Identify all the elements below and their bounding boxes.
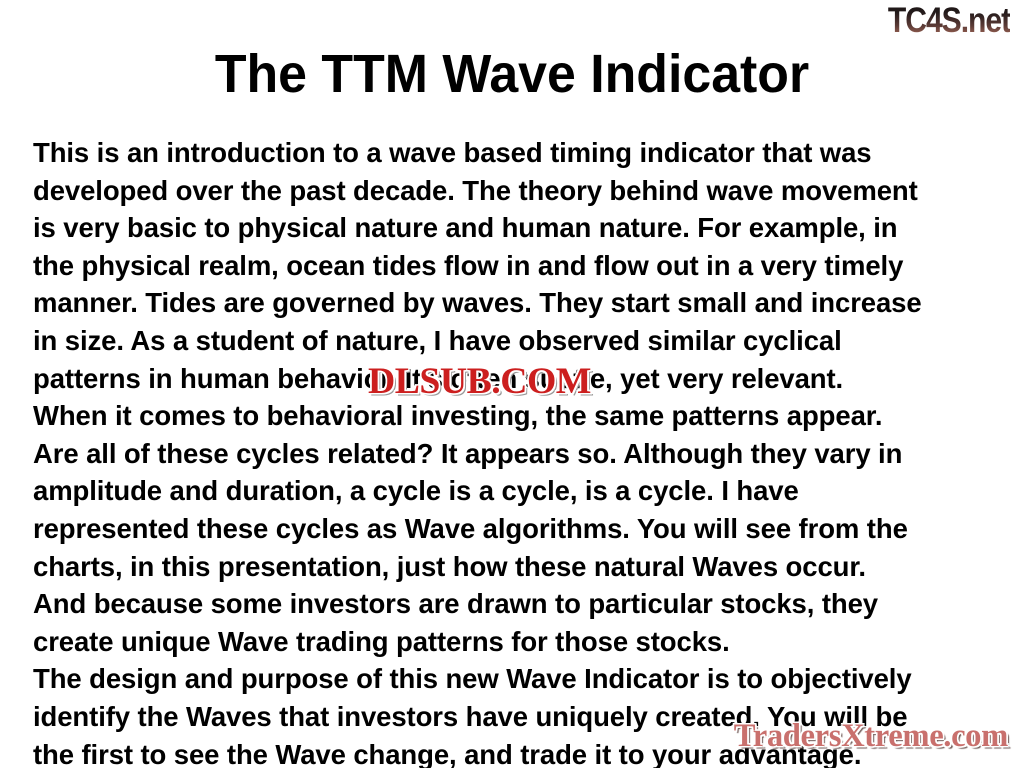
body-line: in size. As a student of nature, I have … <box>33 322 993 360</box>
body-line: This is an introduction to a wave based … <box>33 134 993 172</box>
body-line: developed over the past decade. The theo… <box>33 172 993 210</box>
body-line: the physical realm, ocean tides flow in … <box>33 247 993 285</box>
body-line: Are all of these cycles related? It appe… <box>33 435 993 473</box>
page-title: The TTM Wave Indicator <box>20 44 1003 104</box>
body-line: And because some investors are drawn to … <box>33 585 993 623</box>
body-text-block: This is an introduction to a wave based … <box>33 134 993 768</box>
body-line: manner. Tides are governed by waves. The… <box>33 284 993 322</box>
tradersxtreme-brand-logo: TradersXtreme.com <box>734 718 1008 754</box>
dlsub-watermark: DLSUB.COM <box>368 362 591 402</box>
body-line: create unique Wave trading patterns for … <box>33 623 993 661</box>
slide-canvas: TC4S.net The TTM Wave Indicator This is … <box>0 0 1024 768</box>
body-line: charts, in this presentation, just how t… <box>33 548 993 586</box>
body-line: amplitude and duration, a cycle is a cyc… <box>33 472 993 510</box>
body-line: represented these cycles as Wave algorit… <box>33 510 993 548</box>
body-line: When it comes to behavioral investing, t… <box>33 397 993 435</box>
body-line: The design and purpose of this new Wave … <box>33 660 993 698</box>
tc4s-brand-logo: TC4S.net <box>888 2 1010 40</box>
body-line: is very basic to physical nature and hum… <box>33 209 993 247</box>
